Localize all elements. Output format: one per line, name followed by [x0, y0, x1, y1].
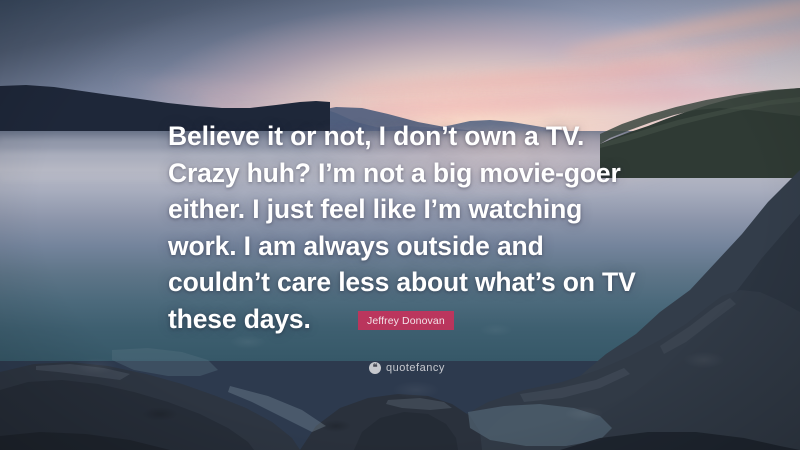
author-name-badge: Jeffrey Donovan [358, 311, 454, 330]
quotefancy-watermark: ❝ quotefancy [369, 362, 445, 374]
author-name-label: Jeffrey Donovan [367, 315, 445, 327]
brand-label: quotefancy [386, 362, 445, 374]
quote-text: Believe it or not, I don’t own a TV. Cra… [168, 118, 636, 338]
quote-mark-icon: ❝ [369, 362, 381, 374]
quote-wallpaper-image: Believe it or not, I don’t own a TV. Cra… [0, 0, 800, 450]
quote-mark-glyph: ❝ [373, 363, 378, 372]
